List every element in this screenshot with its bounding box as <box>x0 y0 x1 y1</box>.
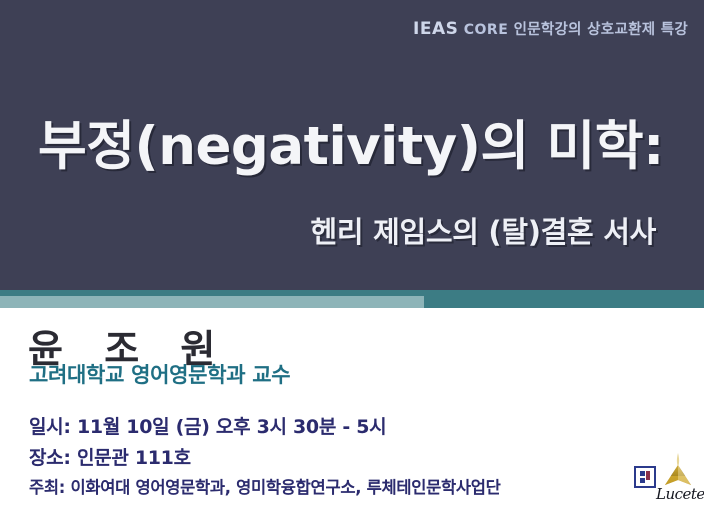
series-banner: IEAS CORE 인문학강의 상호교환제 특강 <box>413 18 688 39</box>
event-location: 장소: 인문관 111호 <box>29 443 191 470</box>
divider-band-soft <box>0 296 424 308</box>
speaker-affiliation: 고려대학교 영어영문학과 교수 <box>29 359 290 389</box>
poster-title: 부정(negativity)의 미학: <box>38 104 664 180</box>
logo-wordmark: Lucete <box>656 485 704 503</box>
lecture-poster: IEAS CORE 인문학강의 상호교환제 특강 부정(negativity)의… <box>0 0 704 528</box>
banner-program: CORE <box>464 22 509 38</box>
banner-organization: IEAS <box>413 19 458 39</box>
banner-series-name: 인문학강의 상호교환제 특강 <box>514 22 688 38</box>
event-hosts: 주최: 이화여대 영어영문학과, 영미학융합연구소, 루체테인문학사업단 <box>29 474 501 498</box>
poster-subtitle: 헨리 제임스의 (탈)결혼 서사 <box>0 209 656 251</box>
event-datetime: 일시: 11월 10일 (금) 오후 3시 30분 - 5시 <box>29 412 386 439</box>
sponsor-logo: Lucete <box>634 452 700 514</box>
poster-header-panel: IEAS CORE 인문학강의 상호교환제 특강 부정(negativity)의… <box>0 0 704 290</box>
ewha-seal-icon <box>634 466 656 488</box>
